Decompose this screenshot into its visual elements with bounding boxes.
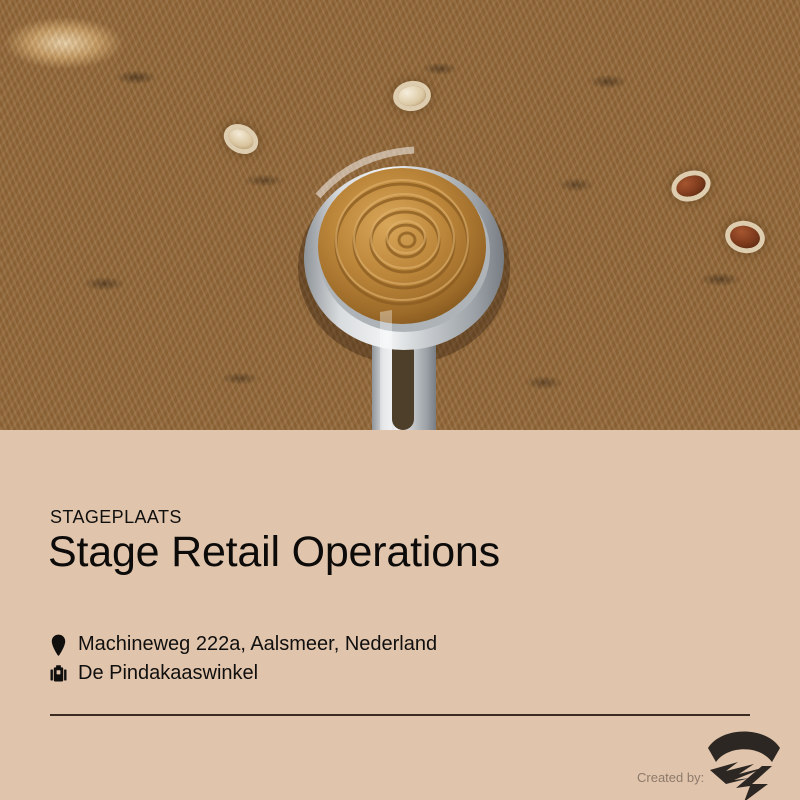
footer-divider bbox=[50, 714, 750, 716]
created-by-label: Created by: bbox=[637, 770, 704, 785]
company-text: De Pindakaaswinkel bbox=[78, 662, 258, 685]
hero-photo bbox=[0, 0, 800, 430]
arc-zigzag-logo bbox=[706, 722, 782, 800]
meta-row-address: Machineweg 222a, Aalsmeer, Nederland bbox=[50, 633, 437, 656]
page-title: Stage Retail Operations bbox=[48, 528, 500, 577]
address-text: Machineweg 222a, Aalsmeer, Nederland bbox=[78, 633, 437, 656]
map-pin-icon bbox=[50, 634, 67, 656]
briefcase-icon bbox=[50, 663, 67, 685]
meta-row-company: De Pindakaaswinkel bbox=[50, 662, 258, 685]
eyebrow-label: STAGEPLAATS bbox=[50, 507, 182, 528]
info-panel: STAGEPLAATS Stage Retail Operations Mach… bbox=[0, 430, 800, 800]
peanut-butter-spoon bbox=[0, 0, 800, 430]
internship-vacancy-card: STAGEPLAATS Stage Retail Operations Mach… bbox=[0, 0, 800, 800]
